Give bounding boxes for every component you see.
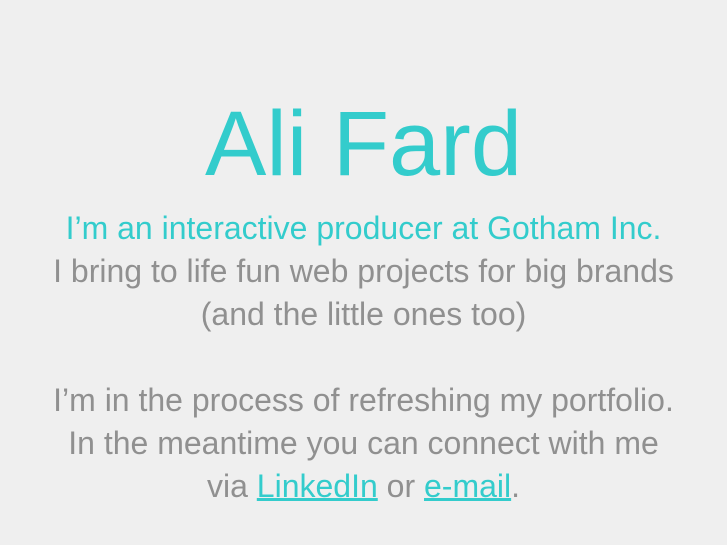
intro-line-3: (and the little ones too) — [0, 293, 727, 336]
contact-line-prefix: via — [207, 468, 257, 504]
intro-line-4: I’m in the process of refreshing my port… — [0, 379, 727, 422]
page-title: Ali Fard — [0, 98, 727, 190]
contact-line: via LinkedIn or e-mail. — [0, 465, 727, 508]
intro-line-2: I bring to life fun web projects for big… — [0, 250, 727, 293]
intro-line-5: In the meantime you can connect with me — [0, 422, 727, 465]
email-link[interactable]: e-mail — [424, 468, 511, 504]
contact-line-middle: or — [378, 468, 424, 504]
contact-line-suffix: . — [511, 468, 520, 504]
page-root: Ali Fard I’m an interactive producer at … — [0, 0, 727, 545]
paragraph-spacer — [0, 336, 727, 379]
intro-block: I’m an interactive producer at Gotham In… — [0, 207, 727, 508]
linkedin-link[interactable]: LinkedIn — [257, 468, 378, 504]
tagline: I’m an interactive producer at Gotham In… — [0, 207, 727, 250]
